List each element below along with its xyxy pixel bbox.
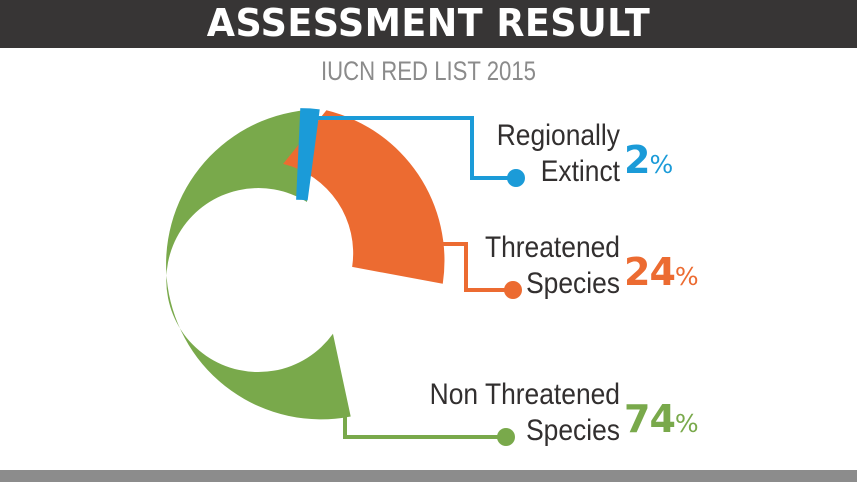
percentage-sign: % xyxy=(675,409,699,438)
callout-label-line2: Species xyxy=(365,266,620,302)
infographic-canvas: ASSESSMENT RESULT IUCN RED LIST 2015 Reg… xyxy=(0,0,857,482)
percentage-sign: % xyxy=(675,262,699,291)
callout-label-line1: Threatened xyxy=(365,230,620,266)
percentage-threatened-species: 24% xyxy=(624,250,699,294)
percentage-value: 2 xyxy=(624,138,649,182)
callout-non-threatened-species: Non Threatened Species xyxy=(320,377,620,449)
callout-label-line1: Regionally xyxy=(365,118,620,154)
percentage-value: 74 xyxy=(624,397,675,441)
callout-label-line2: Extinct xyxy=(365,154,620,190)
percentage-sign: % xyxy=(649,150,673,179)
percentage-non-threatened-species: 74% xyxy=(624,397,699,441)
callout-threatened-species: Threatened Species xyxy=(330,230,620,302)
callout-label-line2: Species xyxy=(356,413,620,449)
percentage-regionally-extinct: 2% xyxy=(624,138,673,182)
callout-label-line1: Non Threatened xyxy=(356,377,620,413)
percentage-value: 24 xyxy=(624,250,675,294)
callout-regionally-extinct: Regionally Extinct xyxy=(330,118,620,190)
footer-bar xyxy=(0,470,857,482)
